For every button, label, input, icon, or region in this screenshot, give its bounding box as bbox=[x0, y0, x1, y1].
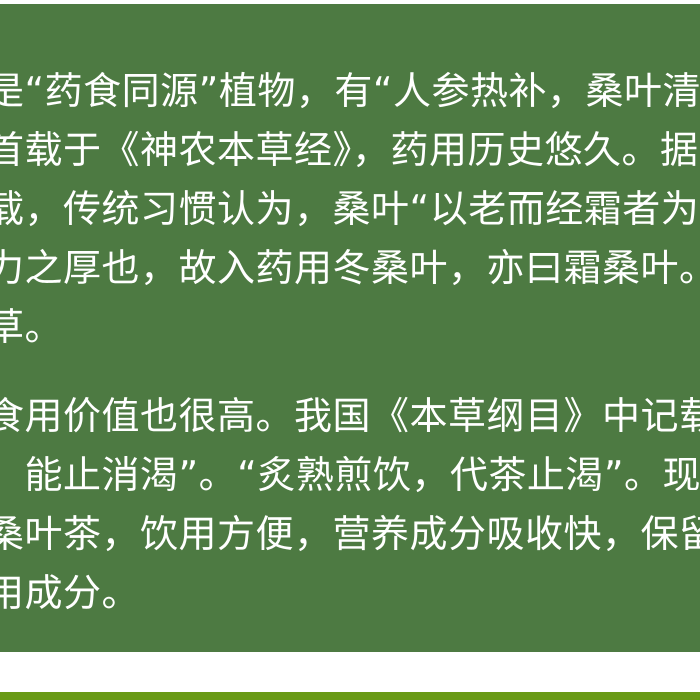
bottom-accent-bar bbox=[0, 692, 700, 700]
paragraph-edible-value: 食用价值也很高。我国《本草纲目》中记载， ，能止消渴”。“炙熟煎饮，代茶止渴”。… bbox=[0, 387, 700, 623]
text-line: 食用价值也很高。我国《本草纲目》中记载， bbox=[0, 387, 700, 446]
text-line: 首载于《神农本草经》，药用历史悠久。据《 bbox=[0, 121, 700, 180]
bottom-white-band bbox=[0, 652, 700, 692]
text-line: 用成分。 bbox=[0, 564, 700, 623]
text-line: 力之厚也，故入药用冬桑叶，亦曰霜桑叶。桑 bbox=[0, 239, 700, 298]
text-line: ，能止消渴”。“炙熟煎饮，代茶止渴”。现 bbox=[0, 446, 700, 505]
text-line: 草。 bbox=[0, 298, 700, 357]
green-description-panel: 是“药食同源”植物，有“人参热补，桑叶清 首载于《神农本草经》，药用历史悠久。据… bbox=[0, 4, 700, 652]
description-text-block: 是“药食同源”植物，有“人参热补，桑叶清 首载于《神农本草经》，药用历史悠久。据… bbox=[0, 4, 700, 623]
text-line: 桑叶茶，饮用方便，营养成分吸收快，保留了 bbox=[0, 505, 700, 564]
paragraph-history: 是“药食同源”植物，有“人参热补，桑叶清 首载于《神农本草经》，药用历史悠久。据… bbox=[0, 62, 700, 357]
text-line: 是“药食同源”植物，有“人参热补，桑叶清 bbox=[0, 62, 700, 121]
text-line: 载，传统习惯认为，桑叶“以老而经霜者为佳 bbox=[0, 180, 700, 239]
page-root: 是“药食同源”植物，有“人参热补，桑叶清 首载于《神农本草经》，药用历史悠久。据… bbox=[0, 0, 700, 700]
